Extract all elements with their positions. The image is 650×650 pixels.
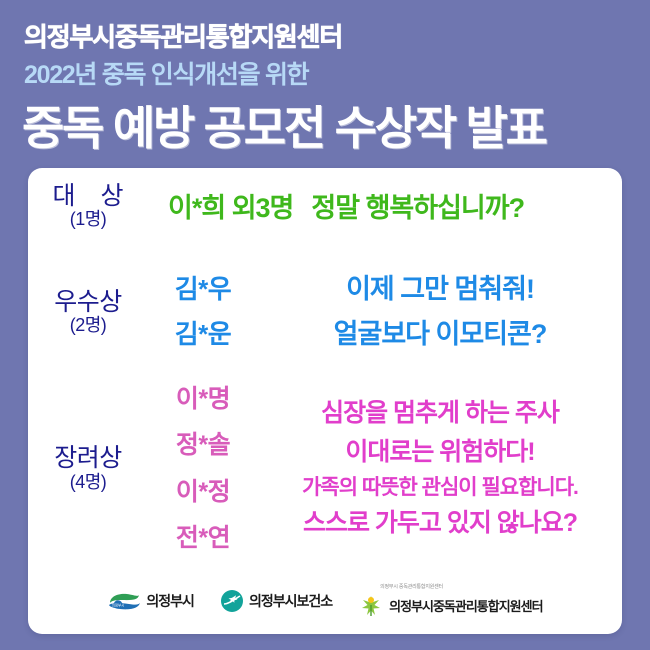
award-winner-name: 이*명 bbox=[148, 376, 258, 423]
organization-name: 의정부시중독관리통합지원센터 bbox=[24, 17, 342, 54]
award-label: 우수상 bbox=[28, 289, 148, 315]
award-count: (2명) bbox=[28, 316, 148, 335]
award-work-title: 이대로는 위험하다! bbox=[258, 433, 622, 472]
logo-addiction-center: 의정부시 중독관리통합지원센터 의정부시중독관리통합지원센터 bbox=[358, 584, 542, 619]
logo-label: 의정부시보건소 bbox=[249, 591, 332, 611]
award-winner-name: 전*연 bbox=[148, 515, 258, 562]
logo-label: 의정부시 bbox=[146, 591, 194, 611]
award-winner-name: 김*우 bbox=[148, 267, 258, 312]
award-work-title: 스스로 가두고 있지 않나요? bbox=[258, 504, 622, 543]
award-row-grand-prize: 대 상 (1명) 이*희 외3명정말 행복하십니까? bbox=[28, 174, 622, 236]
award-work-title: 가족의 따뜻한 관심이 필요합니다. bbox=[258, 472, 622, 505]
award-entry-group: 이*희 외3명정말 행복하십니까? bbox=[148, 186, 622, 225]
award-row-encouragement-prize: 장려상 (4명) 이*명 정*솔 이*정 전*연 심장을 멈추게 하는 주사 이… bbox=[28, 376, 622, 561]
award-work-title: 심장을 멈추게 하는 주사 bbox=[258, 394, 622, 433]
logo-tagline: 의정부시 중독관리통합지원센터 bbox=[380, 583, 443, 590]
award-winner-names: 이*명 정*솔 이*정 전*연 bbox=[148, 376, 258, 562]
award-label-group: 우수상 (2명) bbox=[28, 289, 148, 335]
award-label-group: 대 상 (1명) bbox=[28, 181, 148, 229]
award-count: (4명) bbox=[28, 473, 148, 492]
logo-health-center: 의정부시보건소 bbox=[220, 589, 332, 613]
award-winner-name: 이*정 bbox=[148, 469, 258, 516]
award-work-title: 이제 그만 멈춰줘! bbox=[258, 267, 622, 312]
award-label: 대 상 bbox=[28, 183, 148, 209]
award-work-title: 정말 행복하십니까? bbox=[311, 193, 524, 223]
award-work-title: 얼굴보다 이모티콘? bbox=[258, 312, 622, 357]
poster-header: 의정부시중독관리통합지원센터 2022년 중독 인식개선을 위한 중독 예방 공… bbox=[0, 0, 650, 168]
awards-card: 대 상 (1명) 이*희 외3명정말 행복하십니까? 우수상 (2명) 김*우 … bbox=[28, 168, 622, 634]
addiction-center-star-icon bbox=[358, 593, 384, 619]
logo-label: 의정부시중독관리통합지원센터 bbox=[389, 596, 542, 615]
footer-logos: 의정부시 의정부시 의정부시보건소 의정부시 중독관리통합지원센터 bbox=[28, 568, 622, 634]
awards-list: 대 상 (1명) 이*희 외3명정말 행복하십니까? 우수상 (2명) 김*우 … bbox=[28, 168, 622, 568]
award-count: (1명) bbox=[28, 210, 148, 229]
health-center-circle-icon bbox=[220, 589, 244, 613]
award-entry-line: 이*희 외3명정말 행복하십니까? bbox=[148, 186, 622, 225]
award-label-group: 장려상 (4명) bbox=[28, 445, 148, 491]
poster-root: 의정부시중독관리통합지원센터 2022년 중독 인식개선을 위한 중독 예방 공… bbox=[0, 0, 650, 650]
award-work-titles: 이제 그만 멈춰줘! 얼굴보다 이모티콘? bbox=[258, 267, 622, 357]
poster-subtitle: 2022년 중독 인식개선을 위한 bbox=[24, 55, 308, 91]
award-work-titles: 심장을 멈추게 하는 주사 이대로는 위험하다! 가족의 따뜻한 관심이 필요합… bbox=[258, 394, 622, 543]
award-winner-name: 김*운 bbox=[148, 312, 258, 357]
logo-uijeongbu-city: 의정부시 의정부시 bbox=[107, 589, 194, 613]
award-winner-name: 이*희 외3명 bbox=[168, 193, 293, 223]
award-label: 장려상 bbox=[28, 445, 148, 471]
poster-title: 중독 예방 공모전 수상작 발표 bbox=[22, 92, 546, 158]
award-row-excellence-prize: 우수상 (2명) 김*우 김*운 이제 그만 멈춰줘! 얼굴보다 이모티콘? bbox=[28, 266, 622, 358]
award-winner-name: 정*솔 bbox=[148, 422, 258, 469]
award-winner-names: 김*우 김*운 bbox=[148, 267, 258, 356]
uijeongbu-city-emblem-icon: 의정부시 bbox=[107, 589, 141, 613]
svg-text:의정부시: 의정부시 bbox=[112, 602, 124, 607]
